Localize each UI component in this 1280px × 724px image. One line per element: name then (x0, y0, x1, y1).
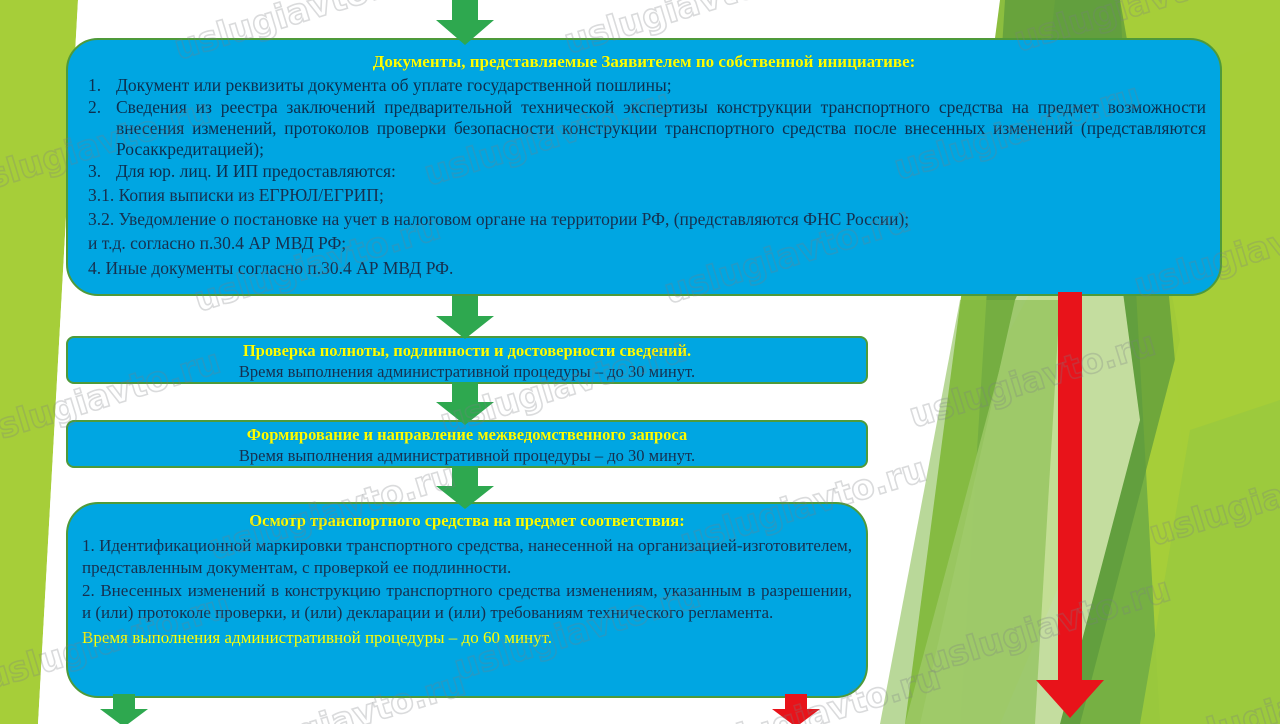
arrow-documents-to-check (434, 296, 496, 340)
list-item-text: Для юр. лиц. И ИП предоставляются: (116, 161, 396, 181)
box-completeness-subtitle: Время выполнения административной процед… (78, 361, 856, 382)
list-item-number: 2. (88, 97, 101, 118)
arrow-request-to-inspection (434, 466, 496, 510)
box-documents-initiative: Документы, представляемые Заявителем по … (66, 38, 1222, 296)
list-item-number: 1. (88, 75, 101, 96)
box-inspection-footer: Время выполнения административной процед… (82, 627, 852, 649)
box-inspection-title: Осмотр транспортного средства на предмет… (82, 512, 852, 531)
box-inspection-line: 1. Идентификационной маркировки транспор… (82, 535, 852, 579)
arrow-inspection-down-right (770, 694, 822, 724)
arrow-top-into-documents (434, 0, 496, 46)
box-documents-line: и т.д. согласно п.30.4 АР МВД РФ; (82, 232, 1206, 254)
box-interagency-request: Формирование и направление межведомствен… (66, 420, 868, 468)
box-vehicle-inspection: Осмотр транспортного средства на предмет… (66, 502, 868, 698)
box-completeness-title: Проверка полноты, подлинности и достовер… (78, 342, 856, 361)
slide-canvas: Документы, представляемые Заявителем по … (0, 0, 1280, 724)
box-completeness-check: Проверка полноты, подлинности и достовер… (66, 336, 868, 384)
list-item-number: 3. (88, 161, 101, 182)
box-documents-line: 3.2. Уведомление о постановке на учет в … (82, 208, 1206, 230)
arrow-bypass-right (1034, 292, 1106, 720)
list-item-text: Документ или реквизиты документа об упла… (116, 75, 672, 95)
box-interagency-title: Формирование и направление межведомствен… (78, 426, 856, 445)
arrow-inspection-down-left (98, 694, 150, 724)
box-documents-line: 3.1. Копия выписки из ЕГРЮЛ/ЕГРИП; (82, 184, 1206, 206)
box-interagency-subtitle: Время выполнения административной процед… (78, 445, 856, 466)
list-item: 1. Документ или реквизиты документа об у… (82, 75, 1206, 96)
list-item-text: Сведения из реестра заключений предварит… (116, 97, 1206, 159)
list-item: 2. Сведения из реестра заключений предва… (82, 97, 1206, 160)
arrow-check-to-request (434, 382, 496, 426)
box-documents-line: 4. Иные документы согласно п.30.4 АР МВД… (82, 257, 1206, 279)
box-inspection-line: 2. Внесенных изменений в конструкцию тра… (82, 580, 852, 624)
box-documents-title: Документы, представляемые Заявителем по … (82, 52, 1206, 72)
list-item: 3. Для юр. лиц. И ИП предоставляются: (82, 161, 1206, 182)
